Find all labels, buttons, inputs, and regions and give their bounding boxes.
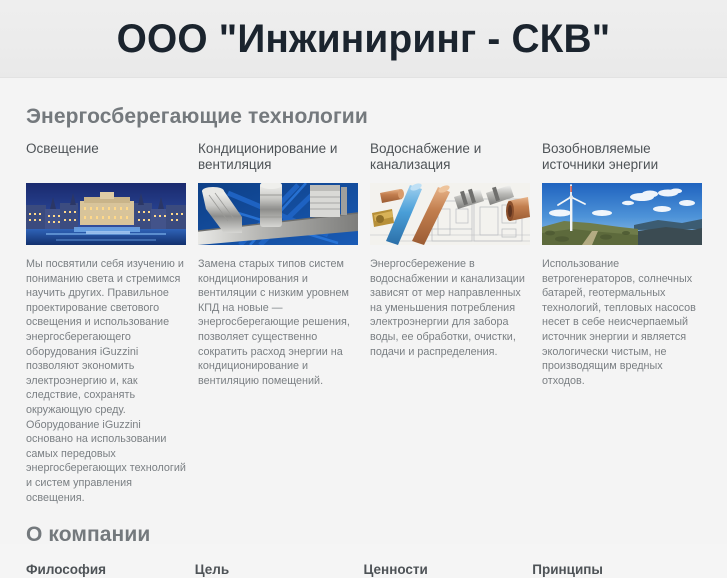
column-title-values: Ценности <box>364 562 521 578</box>
column-body-renewable-energy: Использование ветрогенераторов, солнечны… <box>542 257 702 388</box>
column-values: Ценности <box>364 562 521 578</box>
column-title-lighting: Освещение <box>26 141 186 173</box>
copper-pipes-fittings-blueprint-photo <box>370 183 530 245</box>
column-title-renewable-energy: Возобновляемые источники энергии <box>542 141 702 173</box>
wind-turbine-hillside-sky-photo <box>542 183 702 245</box>
section-heading-about-company: О компании <box>26 505 701 562</box>
column-lighting: Освещение <box>26 141 186 505</box>
column-title-hvac: Кондиционирование и вентиляция <box>198 141 358 173</box>
hvac-ductwork-metal-pipes-photo <box>198 183 358 245</box>
column-title-philosophy: Философия <box>26 562 183 578</box>
column-body-hvac: Замена старых типов систем кондициониров… <box>198 257 358 388</box>
page-title: ООО "Инжиниринг - СКВ" <box>117 19 611 59</box>
column-renewable-energy: Возобновляемые источники энергии <box>542 141 702 505</box>
column-title-goal: Цель <box>195 562 352 578</box>
column-title-principles: Принципы <box>532 562 689 578</box>
column-principles: Принципы <box>532 562 689 578</box>
section-heading-energy-saving: Энергосберегающие технологии <box>26 78 701 141</box>
energy-saving-columns: Освещение <box>26 141 701 505</box>
column-hvac: Кондиционирование и вентиляция <box>198 141 358 505</box>
site-header: ООО "Инжиниринг - СКВ" <box>0 0 727 78</box>
column-body-lighting: Мы посвятили себя изучению и пониманию с… <box>26 257 186 505</box>
column-body-water-supply: Энергосбережение в водоснабжении и канал… <box>370 257 530 359</box>
column-goal: Цель <box>195 562 352 578</box>
night-cityscape-illuminated-buildings-photo <box>26 183 186 245</box>
column-water-supply: Водоснабжение и канализация <box>370 141 530 505</box>
column-title-water-supply: Водоснабжение и канализация <box>370 141 530 173</box>
page-content: Энергосберегающие технологии Освещение <box>0 78 727 544</box>
about-company-columns: Философия Цель Ценности Принципы <box>26 562 701 578</box>
column-philosophy: Философия <box>26 562 183 578</box>
